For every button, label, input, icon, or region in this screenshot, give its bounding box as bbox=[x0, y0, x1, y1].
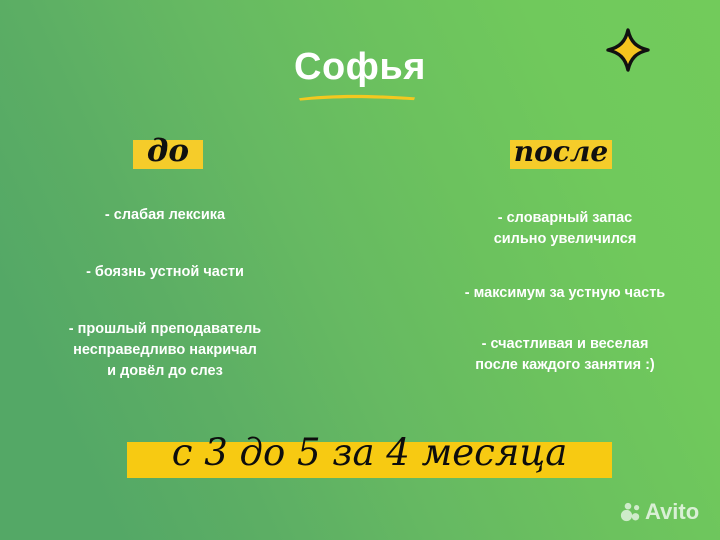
badge-after-label: после bbox=[510, 135, 612, 168]
title-underline-stroke bbox=[298, 92, 416, 101]
list-item: - счастливая и веселая после каждого зан… bbox=[420, 334, 710, 376]
result-banner: с 3 до 5 за 4 месяца bbox=[127, 442, 612, 478]
list-item: - максимум за устную часть bbox=[420, 283, 710, 304]
page-title: Софья bbox=[294, 48, 426, 86]
result-banner-text: с 3 до 5 за 4 месяца bbox=[127, 431, 612, 474]
badge-before-label: до bbox=[133, 133, 203, 169]
avito-wordmark: Avito bbox=[645, 501, 699, 523]
list-item: - словарный запас сильно увеличился bbox=[420, 208, 710, 250]
badge-after: после bbox=[510, 140, 612, 169]
badge-before: до bbox=[133, 140, 203, 169]
column-before: - слабая лексика - боязнь устной части -… bbox=[30, 200, 300, 382]
avito-watermark: Avito bbox=[620, 501, 699, 523]
list-item: - прошлый преподаватель несправедливо на… bbox=[30, 319, 300, 382]
sparkle-star-icon bbox=[604, 26, 652, 74]
testimonial-slide: Софья до после - слабая лексика - боязнь… bbox=[0, 0, 720, 540]
list-item: - слабая лексика bbox=[30, 205, 300, 226]
avito-dots-icon bbox=[620, 502, 642, 522]
list-item: - боязнь устной части bbox=[30, 262, 300, 283]
column-after: - словарный запас сильно увеличился - ма… bbox=[420, 200, 710, 376]
